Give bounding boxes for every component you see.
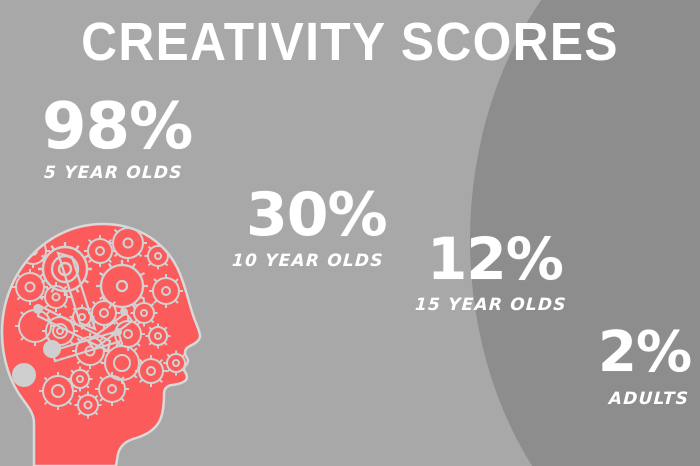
stat-label: 15 YEAR OLDS	[414, 294, 567, 316]
creativity-scores-infographic: CREATIVITY SCORES 98% 5 YEAR OLDS 30% 10…	[0, 0, 700, 466]
stat-block-adults: 2% ADULTS	[592, 322, 691, 410]
stat-label: 10 YEAR OLDS	[231, 250, 387, 272]
stat-block-15-year-olds: 12% 15 YEAR OLDS	[415, 228, 567, 316]
stat-label: 5 YEAR OLDS	[41, 162, 192, 184]
head-with-gears-illustration	[0, 191, 215, 466]
page-title: CREATIVITY SCORES	[28, 12, 672, 72]
stat-value: 2%	[592, 322, 691, 384]
stat-value: 98%	[42, 96, 192, 158]
stat-block-10-year-olds: 30% 10 YEAR OLDS	[232, 184, 387, 272]
stat-label: ADULTS	[591, 388, 691, 410]
stat-value: 30%	[232, 184, 387, 246]
stat-value: 12%	[415, 228, 567, 290]
stat-block-5-year-olds: 98% 5 YEAR OLDS	[42, 96, 192, 184]
